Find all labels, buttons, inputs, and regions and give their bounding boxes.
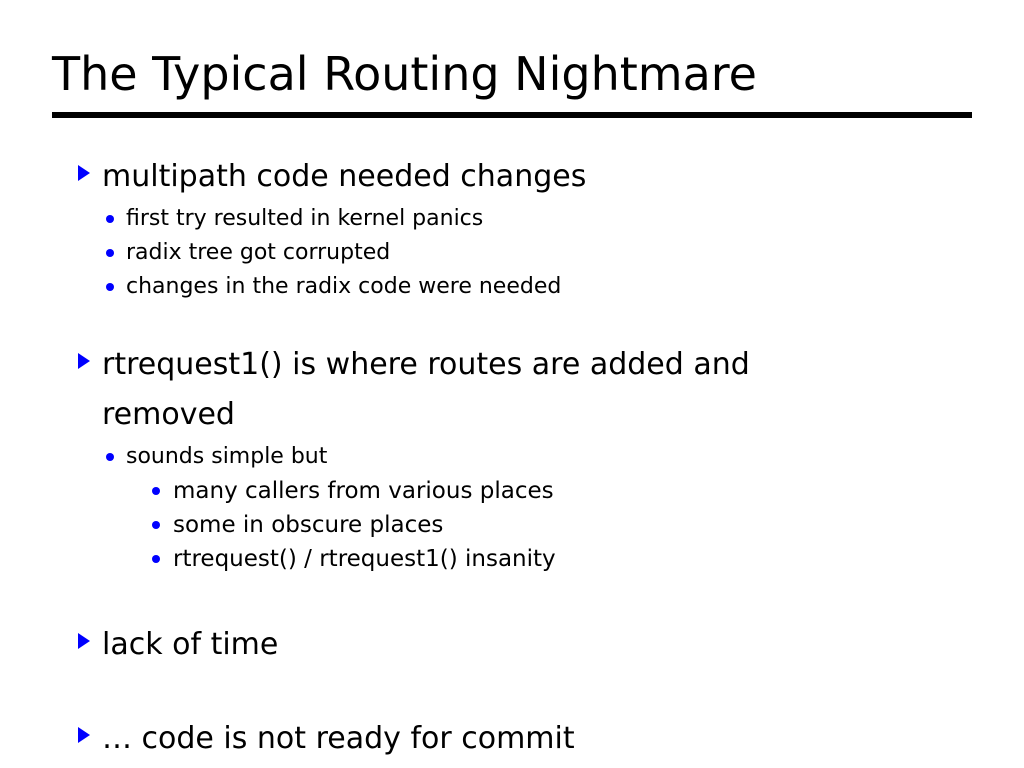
title-underline-rule — [52, 112, 972, 118]
blue-triangle-bullet-icon — [76, 714, 102, 752]
bullet-level1-multipath: multipath code needed changes — [0, 152, 1024, 202]
bullet-level1-label: multipath code needed changes — [102, 152, 586, 202]
bullet-level2-label: first try resulted in kernel panics — [126, 202, 483, 236]
bullet-level3-label: many callers from various places — [173, 474, 554, 508]
blue-round-bullet-icon — [106, 440, 126, 474]
blue-round-bullet-icon — [106, 236, 126, 270]
bullet-level3-label: some in obscure places — [173, 508, 443, 542]
blue-round-bullet-icon — [152, 508, 173, 542]
bullet-level1-label: rtrequest1() is where routes are added a… — [102, 340, 818, 440]
blue-triangle-bullet-icon — [76, 340, 102, 378]
slide-body: multipath code needed changes first try … — [0, 152, 1024, 764]
blue-round-bullet-icon — [152, 474, 173, 508]
bullet-level1-lack-of-time: lack of time — [0, 620, 1024, 670]
blue-triangle-bullet-icon — [76, 620, 102, 658]
bullet-level2-radix-corrupted: radix tree got corrupted — [0, 236, 1024, 270]
blue-round-bullet-icon — [106, 202, 126, 236]
bullet-level3-many-callers: many callers from various places — [0, 474, 1024, 508]
bullet-level2-sounds-simple: sounds simple but — [0, 440, 1024, 474]
bullet-level3-label: rtrequest() / rtrequest1() insanity — [173, 542, 556, 576]
blue-round-bullet-icon — [106, 270, 126, 304]
spacer — [0, 670, 1024, 714]
bullet-level3-obscure-places: some in obscure places — [0, 508, 1024, 542]
bullet-level2-radix-changes: changes in the radix code were needed — [0, 270, 1024, 304]
bullet-level2-label: changes in the radix code were needed — [126, 270, 561, 304]
bullet-level3-rtrequest-insanity: rtrequest() / rtrequest1() insanity — [0, 542, 1024, 576]
bullet-level2-first-try: first try resulted in kernel panics — [0, 202, 1024, 236]
slide: The Typical Routing Nightmare multipath … — [0, 0, 1024, 768]
blue-round-bullet-icon — [152, 542, 173, 576]
title-block: The Typical Routing Nightmare — [52, 46, 972, 102]
spacer — [0, 576, 1024, 620]
bullet-level2-label: radix tree got corrupted — [126, 236, 390, 270]
bullet-level2-label: sounds simple but — [126, 440, 327, 474]
page-title: The Typical Routing Nightmare — [52, 46, 972, 102]
bullet-level1-rtrequest1: rtrequest1() is where routes are added a… — [0, 340, 1024, 440]
spacer — [0, 304, 1024, 340]
bullet-level1-label: lack of time — [102, 620, 278, 670]
bullet-level1-label: … code is not ready for commit — [102, 714, 575, 764]
bullet-level1-not-ready-for-commit: … code is not ready for commit — [0, 714, 1024, 764]
blue-triangle-bullet-icon — [76, 152, 102, 190]
